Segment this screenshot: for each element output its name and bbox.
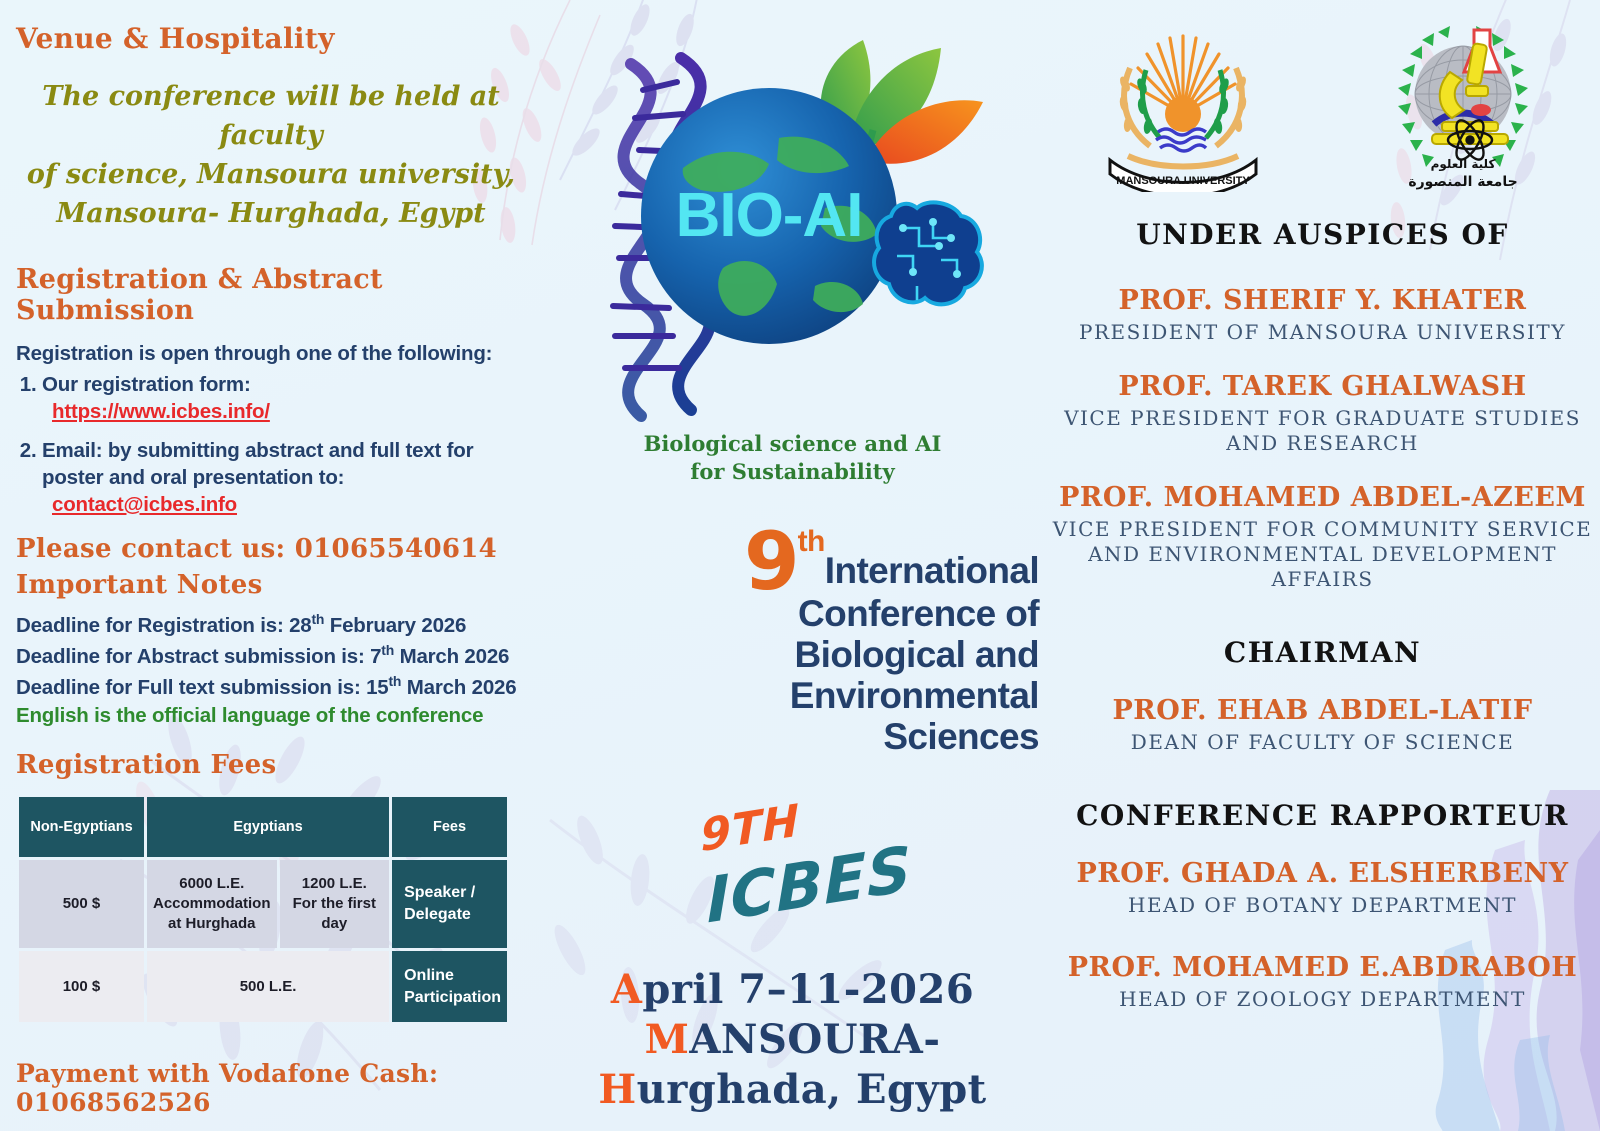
city2-rest: urghada, Egypt xyxy=(637,1066,987,1113)
city2-initial: H xyxy=(598,1066,636,1113)
conference-city-line-1: MANSOURA- xyxy=(540,1015,1045,1065)
chairman-role: DEAN OF FACULTY OF SCIENCE xyxy=(1045,730,1600,755)
date-location-block: April 7–11-2026 MANSOURA- Hurghada, Egyp… xyxy=(540,965,1045,1115)
fee-type-speaker-line1: Speaker / xyxy=(404,882,501,904)
rapporteur-person-2-role: HEAD OF ZOOLOGY DEPARTMENT xyxy=(1045,987,1600,1012)
cell-non-egyptians-speaker: 500 $ xyxy=(19,860,144,949)
note-registration-deadline: Deadline for Registration is: 28th Febru… xyxy=(16,610,526,639)
contact-us-label: Please contact us xyxy=(16,534,276,564)
note-0-after: February 2026 xyxy=(330,614,466,637)
university-logos-row: MANSOURA UNIVERSITY xyxy=(1045,14,1600,192)
note-fulltext-deadline: Deadline for Full text submission is: 15… xyxy=(16,672,526,701)
edition-suffix: th xyxy=(798,525,825,558)
note-2-after: March 2026 xyxy=(407,675,517,698)
registration-fees-table: Non-Egyptians Egyptians Fees 500 $ 6000 … xyxy=(16,794,510,1026)
note-2-sup: th xyxy=(388,673,401,689)
fees-header-fees: Fees xyxy=(392,797,507,857)
fees-table-head: Non-Egyptians Egyptians Fees xyxy=(19,797,507,857)
mansoura-university-logo: MANSOURA UNIVERSITY xyxy=(1098,14,1268,192)
auspices-person-1: PROF. SHERIF Y. KHATER PRESIDENT OF MANS… xyxy=(1045,285,1600,345)
mansoura-university-caption: MANSOURA UNIVERSITY xyxy=(1116,175,1250,187)
registration-form-link[interactable]: https://www.icbes.info/ xyxy=(52,398,526,425)
cell-fee-type-online: Online Participation xyxy=(392,951,507,1022)
registration-intro: Registration is open through one of the … xyxy=(16,340,526,367)
registration-option-email: Email: by submitting abstract and full t… xyxy=(42,437,526,518)
rapporteur-person-1-name: PROF. GHADA A. ELSHERBENY xyxy=(1045,858,1600,889)
edition-number: 9 xyxy=(744,515,798,608)
registration-email-link[interactable]: contact@icbes.info xyxy=(52,491,526,518)
fees-header-egyptians: Egyptians xyxy=(147,797,389,857)
rapporteur-person-2: PROF. MOHAMED E.ABDRABOH HEAD OF ZOOLOGY… xyxy=(1045,952,1600,1012)
registration-title: Registration & Abstract Submission xyxy=(16,264,526,326)
auspices-person-2-name: PROF. TAREK GHALWASH xyxy=(1045,371,1600,402)
note-0-sup: th xyxy=(311,611,324,627)
date-initial: A xyxy=(611,966,643,1013)
date-rest: pril 7–11-2026 xyxy=(642,966,974,1013)
conference-title-line-3: Sciences xyxy=(546,717,1039,758)
auspices-person-2: PROF. TAREK GHALWASH VICE PRESIDENT FOR … xyxy=(1045,371,1600,456)
payment-label: Payment with Vodafone Cash xyxy=(16,1059,429,1088)
auspices-person-1-role: PRESIDENT OF MANSOURA UNIVERSITY xyxy=(1045,320,1600,345)
specimen-slide xyxy=(1471,104,1491,116)
conference-title-line-2: Biological and Environmental xyxy=(546,635,1039,716)
payment-line: Payment with Vodafone Cash: 01068562526 xyxy=(16,1059,526,1117)
table-row: 100 $ 500 L.E. Online Participation xyxy=(19,951,507,1022)
contact-us-number: 01065540614 xyxy=(295,534,497,564)
note-official-language: English is the official language of the … xyxy=(16,702,526,729)
rapporteur-heading: CONFERENCE RAPPORTEUR xyxy=(1045,799,1600,832)
bio-ai-logo-text: BIO-AI xyxy=(675,181,862,250)
note-2-before: Deadline for Full text submission is: 15 xyxy=(16,675,388,698)
fees-header-row: Non-Egyptians Egyptians Fees xyxy=(19,797,507,857)
venue-line-1: The conference will be held at faculty xyxy=(22,77,520,155)
left-column: Venue & Hospitality The conference will … xyxy=(0,0,540,1131)
auspices-person-1-name: PROF. SHERIF Y. KHATER xyxy=(1045,285,1600,316)
conference-date: April 7–11-2026 xyxy=(540,965,1045,1015)
fee-type-online-line2: Participation xyxy=(404,987,501,1009)
registration-options-list: Our registration form: https://www.icbes… xyxy=(42,371,526,518)
auspices-person-2-role: VICE PRESIDENT FOR GRADUATE STUDIES AND … xyxy=(1045,406,1600,456)
registration-option-form-label: Our registration form: xyxy=(42,373,251,396)
brush-logotype: 9TH ICBES xyxy=(540,803,1045,921)
cell-accommodation-place: at Hurghada xyxy=(153,914,271,934)
city-rest: ANSOURA- xyxy=(689,1016,940,1063)
chairman-heading: CHAIRMAN xyxy=(1045,636,1600,669)
registration-option-email-label: Email: by submitting abstract and full t… xyxy=(42,439,473,489)
fee-type-online-line1: Online xyxy=(404,965,501,987)
brochure-page: Venue & Hospitality The conference will … xyxy=(0,0,1600,1131)
note-1-sup: th xyxy=(381,642,394,658)
fees-table-body: 500 $ 6000 L.E. Accommodation at Hurghad… xyxy=(19,860,507,1023)
bio-ai-logo: BIO-AI xyxy=(573,18,1013,428)
rapporteur-person-1: PROF. GHADA A. ELSHERBENY HEAD OF BOTANY… xyxy=(1045,858,1600,918)
cell-egyptians-first-day: 1200 L.E. For the first day xyxy=(280,860,390,949)
fees-header-non-egyptians: Non-Egyptians xyxy=(19,797,144,857)
conference-title-text-1: International Conference of xyxy=(798,550,1039,634)
bio-ai-logo-svg: BIO-AI xyxy=(573,18,1013,428)
note-1-after: March 2026 xyxy=(400,645,510,668)
tagline-line-1: Biological science and AI xyxy=(540,430,1045,458)
circuit-brain-icon xyxy=(874,202,982,304)
venue-title: Venue & Hospitality xyxy=(16,22,526,55)
cell-accommodation-label: Accommodation xyxy=(153,894,271,914)
note-0-before: Deadline for Registration is: 28 xyxy=(16,614,311,637)
fee-type-speaker-line2: Delegate xyxy=(404,904,501,926)
logo-tagline: Biological science and AI for Sustainabi… xyxy=(540,430,1045,485)
cell-egyptians-accommodation: 6000 L.E. Accommodation at Hurghada xyxy=(147,860,277,949)
payment-number: 01068562526 xyxy=(16,1088,211,1117)
rapporteur-person-1-role: HEAD OF BOTANY DEPARTMENT xyxy=(1045,893,1600,918)
conference-title-line-1: 9thInternational Conference of xyxy=(546,525,1039,635)
cell-first-day-label: For the first day xyxy=(286,894,384,935)
right-column: MANSOURA UNIVERSITY xyxy=(1045,0,1600,1131)
chairman-name: PROF. EHAB ABDEL-LATIF xyxy=(1045,695,1600,726)
note-1-before: Deadline for Abstract submission is: 7 xyxy=(16,645,381,668)
center-column: BIO-AI xyxy=(540,0,1045,1131)
conference-city-line-2: Hurghada, Egypt xyxy=(540,1065,1045,1115)
faculty-caption-ar-2: جامعة المنصورة xyxy=(1408,174,1517,190)
tagline-line-2: for Sustainability xyxy=(540,458,1045,486)
rapporteur-person-2-name: PROF. MOHAMED E.ABDRABOH xyxy=(1045,952,1600,983)
cell-egyptians-online: 500 L.E. xyxy=(147,951,389,1022)
registration-option-form: Our registration form: https://www.icbes… xyxy=(42,371,526,425)
city-initial: M xyxy=(645,1016,690,1063)
wreath-base xyxy=(1128,156,1238,167)
auspices-person-3-role: VICE PRESIDENT FOR COMMUNITY SERVICE AND… xyxy=(1045,517,1600,592)
registration-fees-title: Registration Fees xyxy=(16,750,526,780)
contact-us-line: Please contact us: 01065540614 xyxy=(16,534,526,564)
cell-fee-type-speaker: Speaker / Delegate xyxy=(392,860,507,949)
venue-text: The conference will be held at faculty o… xyxy=(22,77,520,234)
cell-non-egyptians-online: 100 $ xyxy=(19,951,144,1022)
note-abstract-deadline: Deadline for Abstract submission is: 7th… xyxy=(16,641,526,670)
under-auspices-heading: UNDER AUSPICES OF xyxy=(1045,218,1600,251)
brush-icbes-text: ICBES xyxy=(576,811,1042,958)
important-notes-title: Important Notes xyxy=(16,570,526,600)
table-row: 500 $ 6000 L.E. Accommodation at Hurghad… xyxy=(19,860,507,949)
important-notes-list: Deadline for Registration is: 28th Febru… xyxy=(16,610,526,730)
faculty-caption-ar-1: كلية العلوم xyxy=(1430,157,1495,172)
chairman-person: PROF. EHAB ABDEL-LATIF DEAN OF FACULTY O… xyxy=(1045,695,1600,755)
venue-line-2: of science, Mansoura university, xyxy=(22,155,520,194)
auspices-person-3: PROF. MOHAMED ABDEL-AZEEM VICE PRESIDENT… xyxy=(1045,482,1600,592)
faculty-of-science-logo: كلية العلوم جامعة المنصورة xyxy=(1378,14,1548,192)
registration-block: Registration is open through one of the … xyxy=(16,340,526,518)
conference-title-block: 9thInternational Conference of Biologica… xyxy=(540,525,1045,757)
venue-line-3: Mansoura- Hurghada, Egypt xyxy=(22,194,520,233)
cell-first-day-amount: 1200 L.E. xyxy=(286,874,384,894)
cell-accommodation-amount: 6000 L.E. xyxy=(153,874,271,894)
auspices-person-3-name: PROF. MOHAMED ABDEL-AZEEM xyxy=(1045,482,1600,513)
water-waves-icon xyxy=(1156,129,1206,151)
